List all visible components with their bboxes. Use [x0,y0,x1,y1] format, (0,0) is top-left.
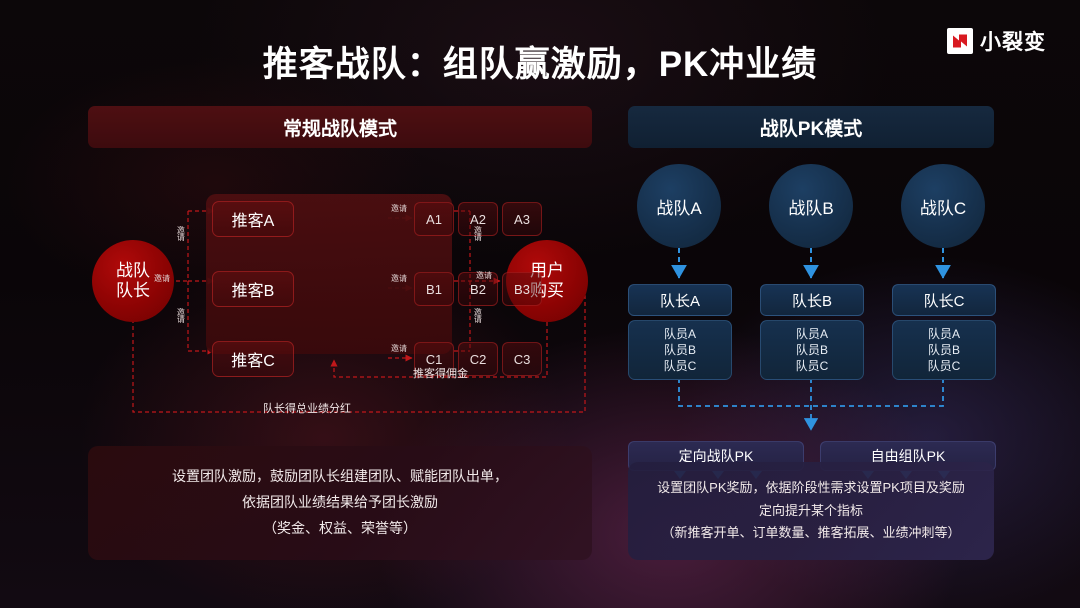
pusher-box-b[interactable]: 推客B [212,271,294,307]
team-member-b-1: 队员A [796,326,828,342]
right-caption-line-3: （新推客开单、订单数量、推客拓展、业绩冲刺等） [661,522,960,545]
leader-box-b[interactable]: 队长B [760,284,864,316]
left-caption: 设置团队激励，鼓励团队长组建团队、赋能团队出单， 依据团队业绩结果给予团长激励 … [88,446,592,560]
captain-line-1: 战队 [116,261,150,281]
invite-label-buyer-a: 邀请 [473,226,481,240]
invite-label-captain-c: 邀请 [176,308,184,322]
left-diagram: 战队 队长 用户 购买 推客A 推客B 推客C A1 A2 A3 B1 B2 B… [88,160,592,420]
team-member-a-2: 队员B [664,342,696,358]
left-panel-heading: 常规战队模式 [88,106,592,148]
team-member-a-1: 队员A [664,326,696,342]
left-caption-line-1: 设置团队激励，鼓励团队长组建团队、赋能团队出单， [172,464,508,490]
leader-box-a[interactable]: 队长A [628,284,732,316]
slide-canvas: 推客战队：组队赢激励，PK冲业绩 小裂变 常规战队模式 战队PK模式 [0,0,1080,608]
team-member-b-2: 队员B [796,342,828,358]
brand-logo: 小裂变 [947,26,1046,56]
team-member-c-1: 队员A [928,326,960,342]
brand-name: 小裂变 [980,26,1046,56]
invite-label-buyer-b: 邀请 [476,272,492,280]
right-diagram: 战队A 战队B 战队C 队长A 队长B 队长C 队员A 队员B 队员C 队员A … [628,160,994,450]
team-circle-c[interactable]: 战队C [901,164,985,248]
team-member-c-2: 队员B [928,342,960,358]
left-caption-line-2: 依据团队业绩结果给予团长激励 [242,490,438,516]
note-bonus: 队长得总业绩分红 [263,400,351,416]
right-caption-line-1: 设置团队PK奖励，依据阶段性需求设置PK项目及奖励 [657,477,965,500]
team-member-a-3: 队员C [664,358,697,374]
right-caption: 设置团队PK奖励，依据阶段性需求设置PK项目及奖励 定向提升某个指标 （新推客开… [628,462,994,560]
pusher-box-a[interactable]: 推客A [212,201,294,237]
invite-label-captain-a: 邀请 [176,226,184,240]
invite-label-row-b: 邀请 [391,275,407,283]
team-circle-b[interactable]: 战队B [769,164,853,248]
page-title: 推客战队：组队赢激励，PK冲业绩 [0,36,1080,87]
leader-box-c[interactable]: 队长C [892,284,996,316]
team-circle-a[interactable]: 战队A [637,164,721,248]
team-member-c-3: 队员C [928,358,961,374]
right-caption-line-2: 定向提升某个指标 [759,500,863,523]
team-members-b[interactable]: 队员A 队员B 队员C [760,320,864,380]
team-members-c[interactable]: 队员A 队员B 队员C [892,320,996,380]
invite-label-buyer-c: 邀请 [473,308,481,322]
right-panel-heading: 战队PK模式 [628,106,994,148]
member-box-c3[interactable]: C3 [502,342,542,376]
invite-label-row-a: 邀请 [391,205,407,213]
member-box-a3[interactable]: A3 [502,202,542,236]
member-box-a1[interactable]: A1 [414,202,454,236]
pusher-box-c[interactable]: 推客C [212,341,294,377]
member-box-b1[interactable]: B1 [414,272,454,306]
lightning-bolt-icon [947,28,973,54]
note-commission: 推客得佣金 [413,365,468,381]
member-box-b3[interactable]: B3 [502,272,542,306]
invite-label-row-c: 邀请 [391,345,407,353]
invite-label-captain-b: 邀请 [154,275,170,283]
team-member-b-3: 队员C [796,358,829,374]
captain-line-2: 队长 [116,281,150,301]
team-members-a[interactable]: 队员A 队员B 队员C [628,320,732,380]
left-caption-line-3: （奖金、权益、荣誉等） [263,516,417,542]
